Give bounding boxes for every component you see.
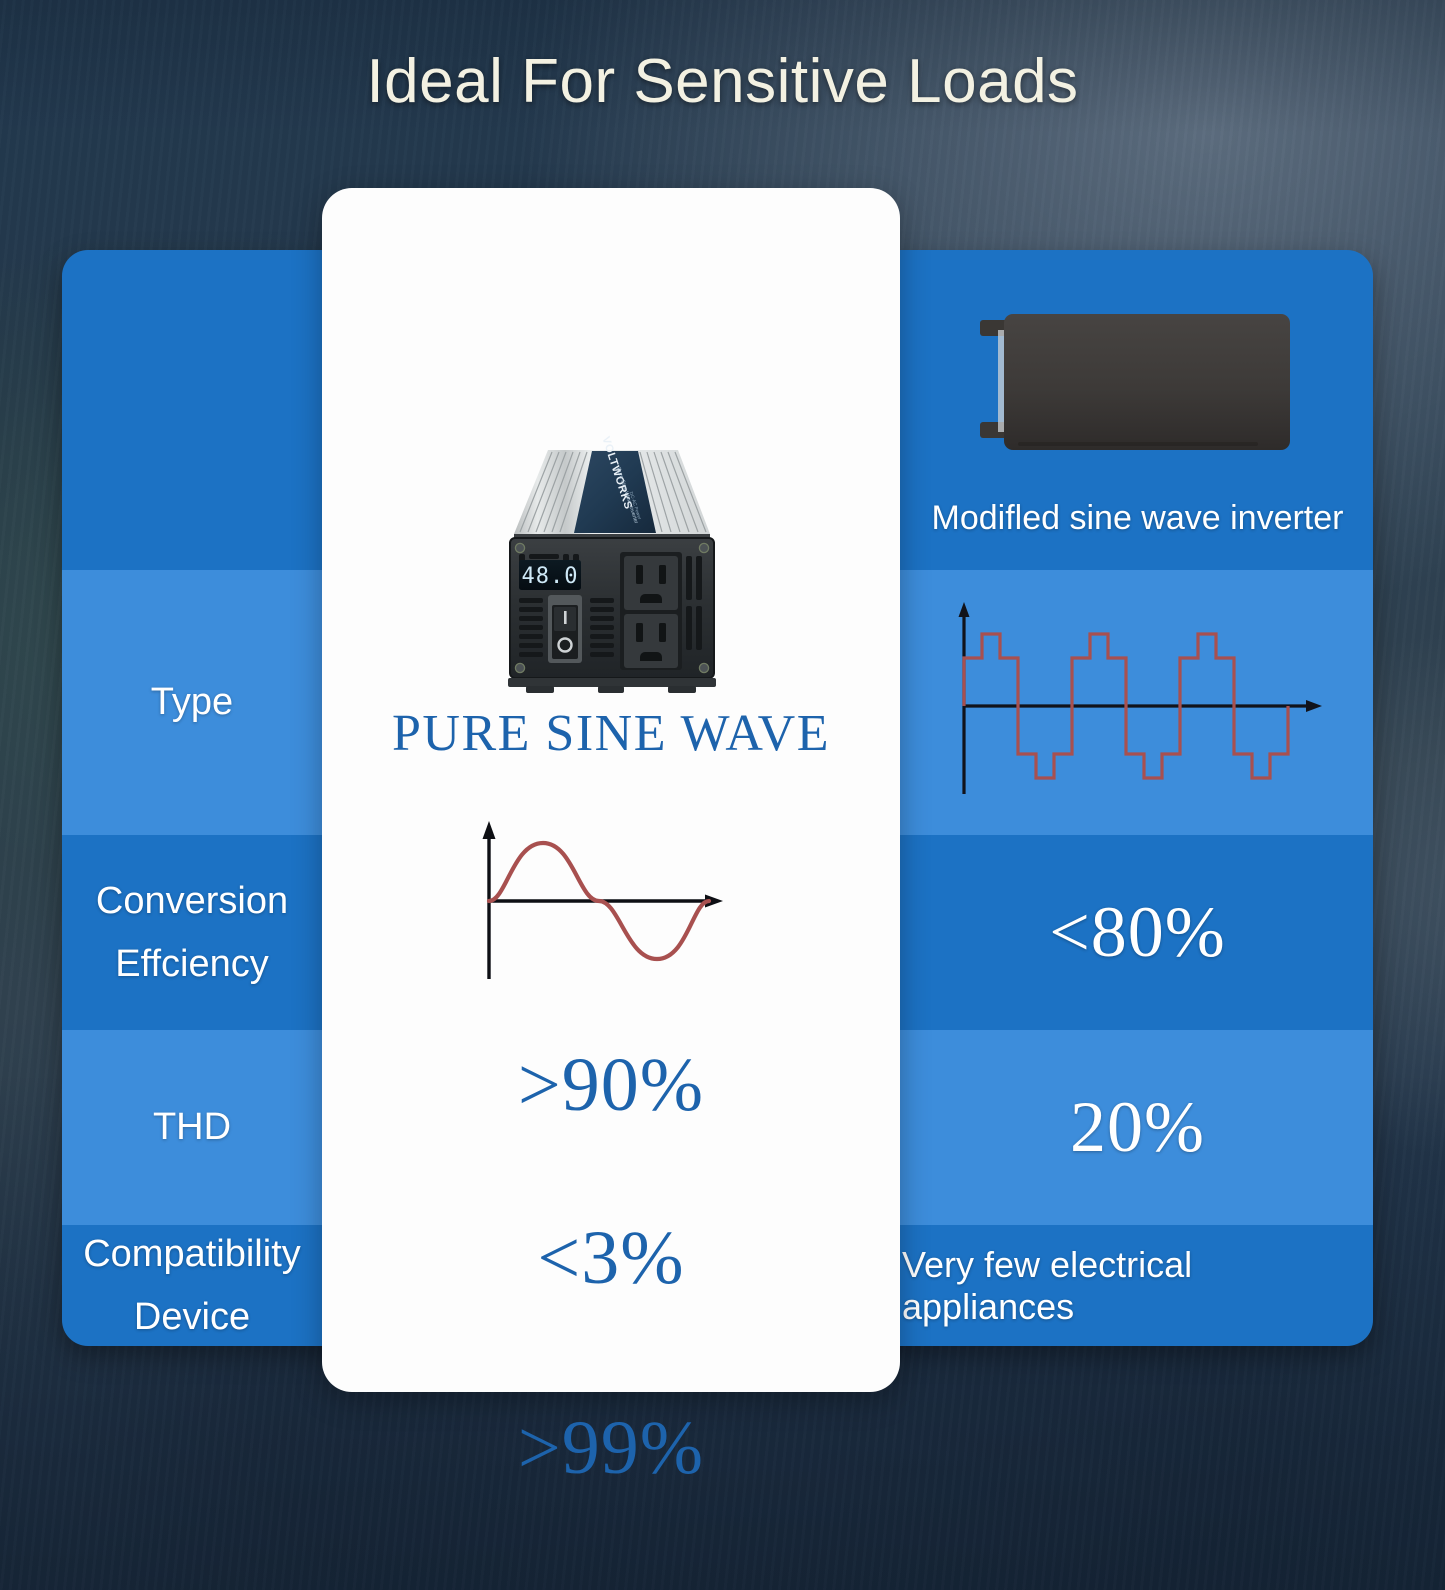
power-switch[interactable] bbox=[548, 595, 582, 663]
right-value-efficiency: <80% bbox=[1049, 891, 1226, 974]
card-title: PURE SINE WAVE bbox=[322, 704, 900, 763]
center-value-efficiency-zone: >90% bbox=[322, 1020, 900, 1150]
row-label-compatibility-line1: Compatibility bbox=[83, 1223, 301, 1286]
ac-outlets bbox=[620, 552, 682, 670]
center-value-compatibility: >99% bbox=[518, 1405, 704, 1492]
pure-sine-wave-card: VOLTWORKS Pure Sine Wave Inverter DC-AC … bbox=[322, 188, 900, 1392]
right-column-header-label: Modifled sine wave inverter bbox=[902, 499, 1373, 538]
pure-sine-graph-zone bbox=[322, 788, 900, 998]
pure-sine-wave-graph bbox=[461, 793, 761, 993]
row-label-compatibility: Compatibility Device bbox=[62, 1225, 322, 1346]
pure-sine-inverter-image: VOLTWORKS Pure Sine Wave Inverter DC-AC … bbox=[486, 434, 736, 696]
row-label-efficiency: Conversion Effciency bbox=[62, 835, 322, 1030]
modified-inverter-image bbox=[978, 302, 1298, 472]
row-label-efficiency-line2: Effciency bbox=[115, 933, 268, 996]
center-value-compatibility-zone: >99% bbox=[322, 1388, 900, 1508]
row-label-thd-text: THD bbox=[153, 1096, 231, 1159]
pure-sine-inverter-illustration: VOLTWORKS Pure Sine Wave Inverter DC-AC … bbox=[486, 434, 736, 696]
row-label-efficiency-line1: Conversion bbox=[96, 870, 288, 933]
page-title: Ideal For Sensitive Loads bbox=[0, 46, 1445, 117]
modified-wave-graph bbox=[938, 598, 1338, 808]
row-label-type-text: Type bbox=[151, 671, 233, 734]
center-value-efficiency: >90% bbox=[518, 1042, 704, 1129]
row-right-efficiency: <80% bbox=[902, 835, 1373, 1030]
modified-inverter-illustration bbox=[978, 302, 1298, 472]
row-label-compatibility-line2: Device bbox=[134, 1286, 250, 1347]
row-right-type bbox=[902, 570, 1373, 835]
center-value-thd: <3% bbox=[537, 1215, 684, 1302]
row-label-thd: THD bbox=[62, 1030, 322, 1225]
header-cell-left bbox=[62, 250, 322, 570]
row-right-thd: 20% bbox=[902, 1030, 1373, 1225]
row-right-compatibility: Very few electrical appliances bbox=[902, 1225, 1373, 1346]
led-display-value: 48.0 bbox=[522, 564, 579, 589]
row-label-type: Type bbox=[62, 570, 322, 835]
right-value-compatibility: Very few electrical appliances bbox=[902, 1244, 1373, 1328]
switch-on-mark bbox=[564, 611, 567, 624]
inverter-base bbox=[508, 678, 716, 687]
center-value-thd-zone: <3% bbox=[322, 1198, 900, 1318]
header-cell-right: Modifled sine wave inverter bbox=[902, 250, 1373, 570]
right-value-thd: 20% bbox=[1070, 1086, 1205, 1169]
